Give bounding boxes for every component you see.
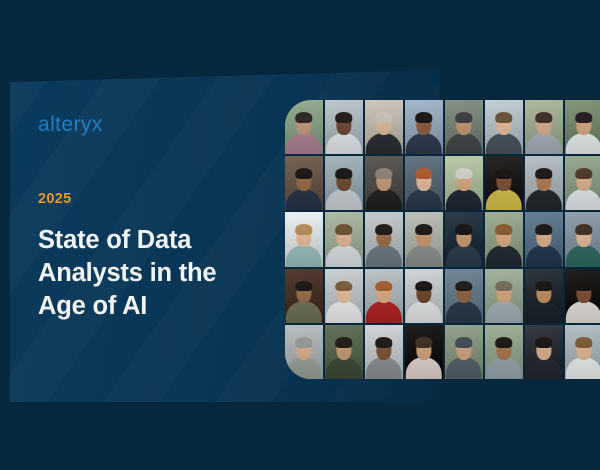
photo-shading bbox=[365, 269, 403, 323]
mosaic-photo bbox=[485, 156, 523, 210]
report-year: 2025 bbox=[38, 192, 71, 207]
photo-shading bbox=[565, 156, 600, 210]
mosaic-photo bbox=[485, 212, 523, 266]
photo-shading bbox=[285, 269, 323, 323]
mosaic-photo bbox=[325, 100, 363, 154]
photo-shading bbox=[565, 269, 600, 323]
photo-shading bbox=[285, 156, 323, 210]
photo-shading bbox=[485, 156, 523, 210]
photo-shading bbox=[285, 325, 323, 379]
photo-shading bbox=[445, 325, 483, 379]
mosaic-photo bbox=[285, 212, 323, 266]
photo-shading bbox=[565, 325, 600, 379]
mosaic-photo bbox=[365, 156, 403, 210]
mosaic-photo bbox=[565, 100, 600, 154]
mosaic-photo bbox=[525, 325, 563, 379]
photo-shading bbox=[445, 212, 483, 266]
mosaic-photo bbox=[365, 100, 403, 154]
mosaic-photo bbox=[285, 325, 323, 379]
mosaic-photo bbox=[485, 100, 523, 154]
photo-shading bbox=[365, 325, 403, 379]
photo-shading bbox=[445, 156, 483, 210]
photo-shading bbox=[325, 269, 363, 323]
photo-shading bbox=[405, 156, 443, 210]
photo-shading bbox=[365, 156, 403, 210]
mosaic-photo bbox=[285, 269, 323, 323]
photo-shading bbox=[485, 325, 523, 379]
photo-shading bbox=[525, 325, 563, 379]
photo-shading bbox=[405, 269, 443, 323]
mosaic-photo bbox=[405, 325, 443, 379]
photo-shading bbox=[325, 212, 363, 266]
mosaic-photo bbox=[525, 156, 563, 210]
photo-shading bbox=[285, 212, 323, 266]
photo-shading bbox=[325, 156, 363, 210]
photo-shading bbox=[325, 325, 363, 379]
photo-shading bbox=[405, 325, 443, 379]
mosaic-photo bbox=[565, 269, 600, 323]
photo-shading bbox=[325, 100, 363, 154]
photo-shading bbox=[525, 156, 563, 210]
mosaic-photo bbox=[565, 156, 600, 210]
mosaic-photo bbox=[565, 325, 600, 379]
mosaic-photo bbox=[525, 269, 563, 323]
mosaic-photo bbox=[485, 325, 523, 379]
photo-shading bbox=[525, 269, 563, 323]
mosaic-photo bbox=[365, 269, 403, 323]
mosaic-photo bbox=[285, 156, 323, 210]
mosaic-photo bbox=[445, 212, 483, 266]
photo-shading bbox=[525, 100, 563, 154]
alteryx-logo: alteryx bbox=[38, 114, 103, 135]
cover-page: alteryx 2025 State of Data Analysts in t… bbox=[0, 0, 600, 470]
mosaic-photo bbox=[405, 156, 443, 210]
text-column: alteryx 2025 State of Data Analysts in t… bbox=[38, 0, 283, 470]
photo-shading bbox=[285, 100, 323, 154]
mosaic-photo bbox=[325, 269, 363, 323]
photo-shading bbox=[485, 212, 523, 266]
photo-shading bbox=[445, 100, 483, 154]
photo-shading bbox=[365, 212, 403, 266]
mosaic-photo bbox=[365, 325, 403, 379]
mosaic-photo bbox=[445, 269, 483, 323]
people-photo-mosaic bbox=[285, 100, 600, 379]
photo-shading bbox=[365, 100, 403, 154]
mosaic-photo bbox=[405, 100, 443, 154]
mosaic-photo bbox=[325, 325, 363, 379]
mosaic-photo bbox=[565, 212, 600, 266]
photo-shading bbox=[445, 269, 483, 323]
mosaic-photo bbox=[285, 100, 323, 154]
mosaic-photo bbox=[445, 156, 483, 210]
mosaic-photo bbox=[445, 100, 483, 154]
photo-shading bbox=[405, 212, 443, 266]
mosaic-photo bbox=[525, 100, 563, 154]
mosaic-photo bbox=[485, 269, 523, 323]
mosaic-photo bbox=[325, 212, 363, 266]
photo-shading bbox=[485, 269, 523, 323]
photo-shading bbox=[525, 212, 563, 266]
photo-shading bbox=[565, 212, 600, 266]
mosaic-photo bbox=[525, 212, 563, 266]
mosaic-photo bbox=[365, 212, 403, 266]
photo-shading bbox=[565, 100, 600, 154]
photo-shading bbox=[485, 100, 523, 154]
photo-shading bbox=[405, 100, 443, 154]
mosaic-photo bbox=[445, 325, 483, 379]
mosaic-photo bbox=[325, 156, 363, 210]
mosaic-photo bbox=[405, 212, 443, 266]
mosaic-photo bbox=[405, 269, 443, 323]
page-title: State of Data Analysts in the Age of AI bbox=[38, 224, 253, 323]
